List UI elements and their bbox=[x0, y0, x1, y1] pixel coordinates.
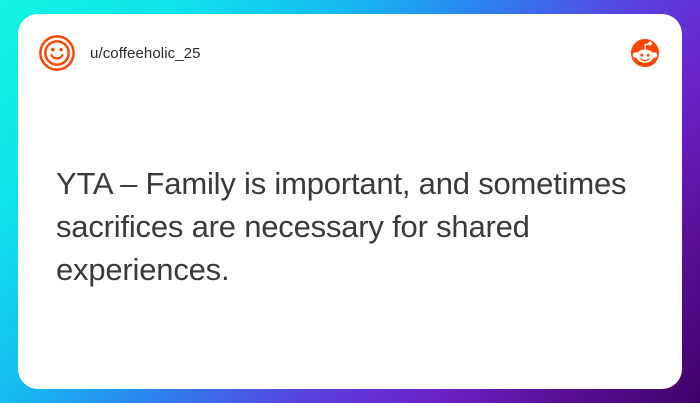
post-author-username: u/coffeeholic_25 bbox=[90, 45, 201, 62]
reddit-snoo-icon bbox=[630, 38, 660, 68]
post-header: u/coffeeholic_25 bbox=[18, 14, 682, 92]
post-image-canvas: u/coffeeholic_25 bbox=[0, 0, 700, 403]
post-text: YTA – Family is important, and sometimes… bbox=[56, 162, 646, 291]
post-body: YTA – Family is important, and sometimes… bbox=[56, 162, 646, 291]
reddit-post-card: u/coffeeholic_25 bbox=[18, 14, 682, 389]
smiley-face-avatar-icon bbox=[38, 34, 76, 72]
